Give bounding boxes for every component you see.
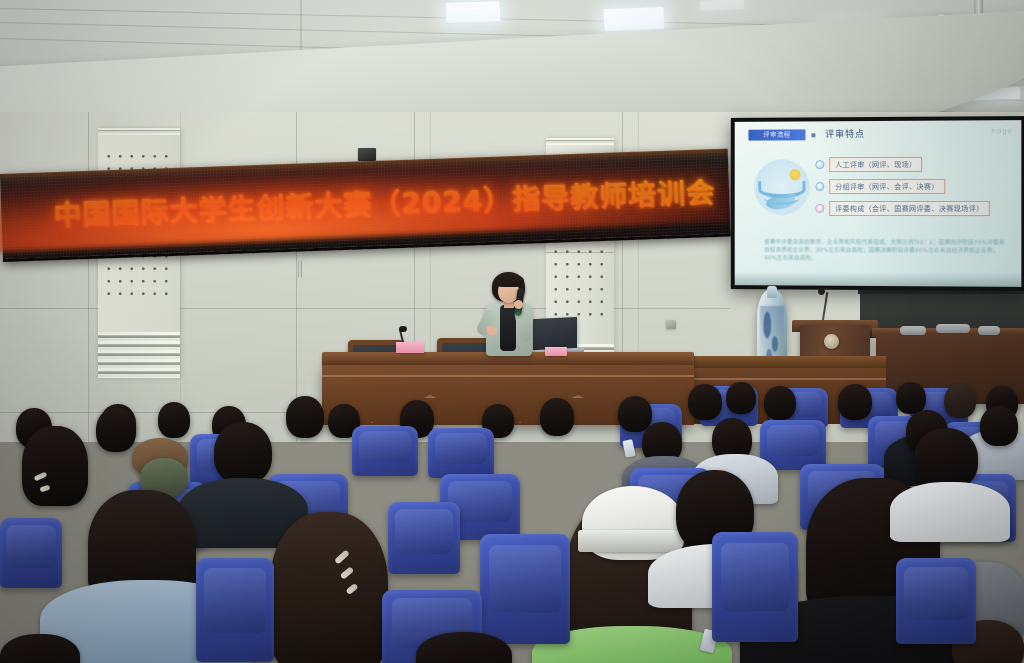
attendee-head (764, 386, 796, 420)
slide-bullet-item: 评委构成（会评、国赛网评委、决赛现场评） (815, 201, 989, 216)
slide-emblem-icon (754, 159, 809, 215)
ceiling-light (446, 1, 501, 23)
attendee-head (914, 428, 978, 490)
ceiling (0, 0, 1024, 128)
auditorium-seat[interactable] (712, 532, 798, 642)
attendee-head (22, 426, 88, 506)
ceiling-light (700, 0, 744, 11)
slide-separator-icon (811, 133, 815, 137)
attendee-head (270, 512, 388, 663)
bullet-dot-icon (815, 160, 824, 169)
attendee-head (944, 384, 976, 418)
auditorium-seat[interactable] (0, 518, 62, 588)
slide-surface: 评审流程 评审特点 hoge 人工评审（网评、现场） 分组评审（网评、会评、决赛… (735, 120, 1022, 287)
attendee-head (286, 396, 324, 438)
slide-bullet-text: 分组评审（网评、会评、决赛） (829, 179, 945, 194)
auditorium-seat[interactable] (428, 428, 494, 478)
attendee-head (214, 422, 272, 484)
slide-bullet-text: 人工评审（网评、现场） (829, 157, 922, 172)
side-table-object (900, 326, 926, 335)
slide-bullet-item: 分组评审（网评、会评、决赛） (815, 179, 944, 194)
slide-corner-logo: hoge (991, 127, 1013, 135)
wall-switch-plate[interactable] (666, 320, 676, 329)
audience-area (0, 382, 1024, 663)
attendee-head (540, 398, 574, 436)
attendee-head (896, 382, 926, 414)
bullet-dot-icon (815, 182, 824, 191)
auditorium-seat[interactable] (352, 426, 418, 476)
auditorium-seat[interactable] (388, 502, 460, 574)
presenter-hand (514, 300, 523, 309)
attendee-head (618, 396, 652, 432)
slide-title: 评审特点 (825, 127, 865, 140)
name-card (545, 347, 567, 356)
slide-bullet-text: 评委构成（会评、国赛网评委、决赛现场评） (829, 201, 990, 216)
auditorium-seat[interactable] (896, 558, 976, 644)
attendee-head (158, 402, 190, 438)
presenter (470, 272, 544, 364)
auditorium-seat[interactable] (480, 534, 570, 644)
slide-section-tab: 评审流程 (748, 129, 805, 140)
projection-screen: 评审流程 评审特点 hoge 人工评审（网评、现场） 分组评审（网评、会评、决赛… (731, 116, 1024, 291)
wall-speaker-mount (358, 148, 376, 161)
auditorium-seat[interactable] (196, 558, 274, 662)
attendee-head (726, 382, 756, 414)
baseball-cap-brim (578, 530, 684, 552)
slide-paragraph: 省赛中评委由高校教师、企业界和风投代表组成，大致比例为3：2；国赛网评阶段70%… (764, 239, 1009, 264)
attendee-head (838, 384, 872, 420)
attendee-head (96, 408, 136, 452)
bullet-dot-icon (815, 204, 824, 213)
attendee-shoulders (890, 482, 1010, 542)
slide-bullet-item: 人工评审（网评、现场） (815, 157, 922, 172)
lectern-mic-head-icon (818, 288, 825, 295)
attendee-head (980, 406, 1018, 446)
ceiling-light (604, 7, 665, 31)
name-card (396, 342, 424, 353)
table-microphone-head-icon (399, 326, 407, 332)
lectern-emblem-icon (824, 334, 839, 349)
side-table-object (978, 326, 1000, 335)
attendee-head (688, 384, 722, 420)
screen-bottom-shadow (735, 271, 1022, 287)
side-table-object (936, 324, 970, 333)
auditorium-photo-scene: 中国国际大学生创新大赛（2024）指导教师培训会 评审流程 评审特点 hoge … (0, 0, 1024, 663)
